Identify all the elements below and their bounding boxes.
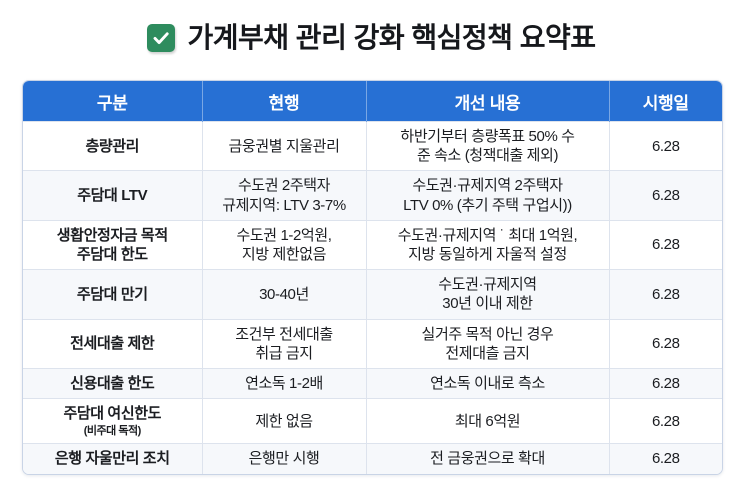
cell-line: 준 속소 (청잭대출 제외): [371, 146, 605, 165]
cell-line: LTV 0% (추기 주택 구업시)): [371, 196, 605, 215]
cell-improvement: 실거주 목적 아닌 경우전제대츨 금지: [366, 319, 609, 368]
cell-line: 주담대 만기: [27, 285, 198, 304]
column-header-category: 구분: [23, 81, 202, 122]
cell-effective-date: 6.28: [609, 319, 722, 368]
cell-line: 제한 없음: [207, 412, 362, 431]
cell-line: 연소독 이내로 측소: [371, 374, 605, 393]
cell-line: 신용대출 한도: [27, 374, 198, 393]
cell-category: 신용대출 한도: [23, 368, 202, 398]
cell-effective-date: 6.28: [609, 220, 722, 269]
table-header: 구분 현행 개선 내용 시행일: [23, 81, 722, 122]
cell-improvement: 하반기부터 층량폭표 50% 수준 속소 (청잭대출 제외): [366, 122, 609, 171]
column-header-effective-date: 시행일: [609, 81, 722, 122]
table-row: 주담대 여신한도(비주대 독적)제한 없음최대 6억원6.28: [23, 399, 722, 444]
cell-line: 30년 이내 제한: [371, 294, 605, 313]
cell-line: 수도권·규제지역 ˙ 최대 1억원,: [371, 226, 605, 245]
cell-current: 수도권 1-2억원,지방 제한없음: [202, 220, 366, 269]
cell-current: 30-40년: [202, 270, 366, 319]
cell-category: 주담대 여신한도(비주대 독적): [23, 399, 202, 444]
policy-table: 구분 현행 개선 내용 시행일 층량관리금웅권별 지울관리하반기부터 층량폭표 …: [23, 81, 722, 474]
column-header-improvement: 개선 내용: [366, 81, 609, 122]
cell-category: 생홥안정자금 목적주담대 한도: [23, 220, 202, 269]
check-square-icon: [147, 24, 175, 52]
table-row: 신용대출 한도연소독 1-2배연소독 이내로 측소6.28: [23, 368, 722, 398]
cell-line: 주담대 한도: [27, 245, 198, 264]
policy-table-container: 구분 현행 개선 내용 시행일 층량관리금웅권별 지울관리하반기부터 층량폭표 …: [22, 80, 723, 475]
cell-effective-date: 6.28: [609, 171, 722, 220]
cell-line: 주담대 LTV: [27, 186, 198, 205]
cell-line: 최대 6억원: [371, 412, 605, 431]
table-row: 층량관리금웅권별 지울관리하반기부터 층량폭표 50% 수준 속소 (청잭대출 …: [23, 122, 722, 171]
cell-effective-date: 6.28: [609, 368, 722, 398]
cell-line: 수도권 1-2억원,: [207, 226, 362, 245]
cell-category: 주담대 LTV: [23, 171, 202, 220]
page-root: 가계부채 관리 강화 핵심정책 요약표 구분 현행 개선 내용 시행일 층량관리…: [0, 0, 743, 495]
header-row: 구분 현행 개선 내용 시행일: [23, 81, 722, 122]
cell-category: 주담대 만기: [23, 270, 202, 319]
page-title-bar: 가계부채 관리 강화 핵심정책 요약표: [0, 0, 743, 62]
cell-category: 은행 자울만리 조치: [23, 444, 202, 474]
cell-improvement: 수도권·규제지역30년 이내 제한: [366, 270, 609, 319]
table-row: 주담대 LTV수도권 2주택자규제지역: LTV 3-7%수도권·규제지역 2주…: [23, 171, 722, 220]
cell-line: 금웅권별 지울관리: [207, 137, 362, 156]
cell-current: 연소독 1-2배: [202, 368, 366, 398]
cell-line: 30-40년: [207, 285, 362, 304]
cell-line: 전 금웅권으로 확대: [371, 449, 605, 468]
cell-improvement: 수도권·규제지역 2주택자LTV 0% (추기 주택 구업시)): [366, 171, 609, 220]
table-row: 전세대출 제한조건부 전세대출취급 금지실거주 목적 아닌 경우전제대츨 금지6…: [23, 319, 722, 368]
page-title: 가계부채 관리 강화 핵심정책 요약표: [187, 24, 595, 52]
cell-current: 은행만 시행: [202, 444, 366, 474]
cell-line: 하반기부터 층량폭표 50% 수: [371, 127, 605, 146]
cell-line: 전제대츨 금지: [371, 344, 605, 363]
cell-effective-date: 6.28: [609, 444, 722, 474]
table-body: 층량관리금웅권별 지울관리하반기부터 층량폭표 50% 수준 속소 (청잭대출 …: [23, 122, 722, 474]
cell-improvement: 연소독 이내로 측소: [366, 368, 609, 398]
cell-improvement: 최대 6억원: [366, 399, 609, 444]
cell-line: 규제지역: LTV 3-7%: [207, 196, 362, 215]
table-row: 생홥안정자금 목적주담대 한도수도권 1-2억원,지방 제한없음수도권·규제지역…: [23, 220, 722, 269]
cell-improvement: 전 금웅권으로 확대: [366, 444, 609, 474]
cell-line: 수도권 2주택자: [207, 176, 362, 195]
cell-current: 제한 없음: [202, 399, 366, 444]
cell-line: 지방 동일하게 자울적 설정: [371, 245, 605, 264]
cell-line: 생홥안정자금 목적: [27, 226, 198, 245]
table-row: 주담대 만기30-40년수도권·규제지역30년 이내 제한6.28: [23, 270, 722, 319]
cell-current: 조건부 전세대출취급 금지: [202, 319, 366, 368]
cell-line: 은행만 시행: [207, 449, 362, 468]
column-header-current: 현행: [202, 81, 366, 122]
cell-category: 층량관리: [23, 122, 202, 171]
cell-improvement: 수도권·규제지역 ˙ 최대 1억원,지방 동일하게 자울적 설정: [366, 220, 609, 269]
cell-line: 수도권·규제지역 2주택자: [371, 176, 605, 195]
cell-line: 취급 금지: [207, 344, 362, 363]
cell-line: 주담대 여신한도: [27, 404, 198, 423]
cell-category: 전세대출 제한: [23, 319, 202, 368]
table-row: 은행 자울만리 조치은행만 시행전 금웅권으로 확대6.28: [23, 444, 722, 474]
cell-effective-date: 6.28: [609, 270, 722, 319]
cell-line: 조건부 전세대출: [207, 325, 362, 344]
cell-effective-date: 6.28: [609, 122, 722, 171]
cell-effective-date: 6.28: [609, 399, 722, 444]
cell-line: 수도권·규제지역: [371, 275, 605, 294]
cell-current: 수도권 2주택자규제지역: LTV 3-7%: [202, 171, 366, 220]
cell-line: 연소독 1-2배: [207, 374, 362, 393]
cell-line: 층량관리: [27, 137, 198, 156]
cell-line: 은행 자울만리 조치: [27, 449, 198, 468]
cell-line: 실거주 목적 아닌 경우: [371, 325, 605, 344]
cell-line: 전세대출 제한: [27, 334, 198, 353]
cell-line: 지방 제한없음: [207, 245, 362, 264]
cell-current: 금웅권별 지울관리: [202, 122, 366, 171]
cell-category-sublabel: (비주대 독적): [27, 424, 198, 438]
